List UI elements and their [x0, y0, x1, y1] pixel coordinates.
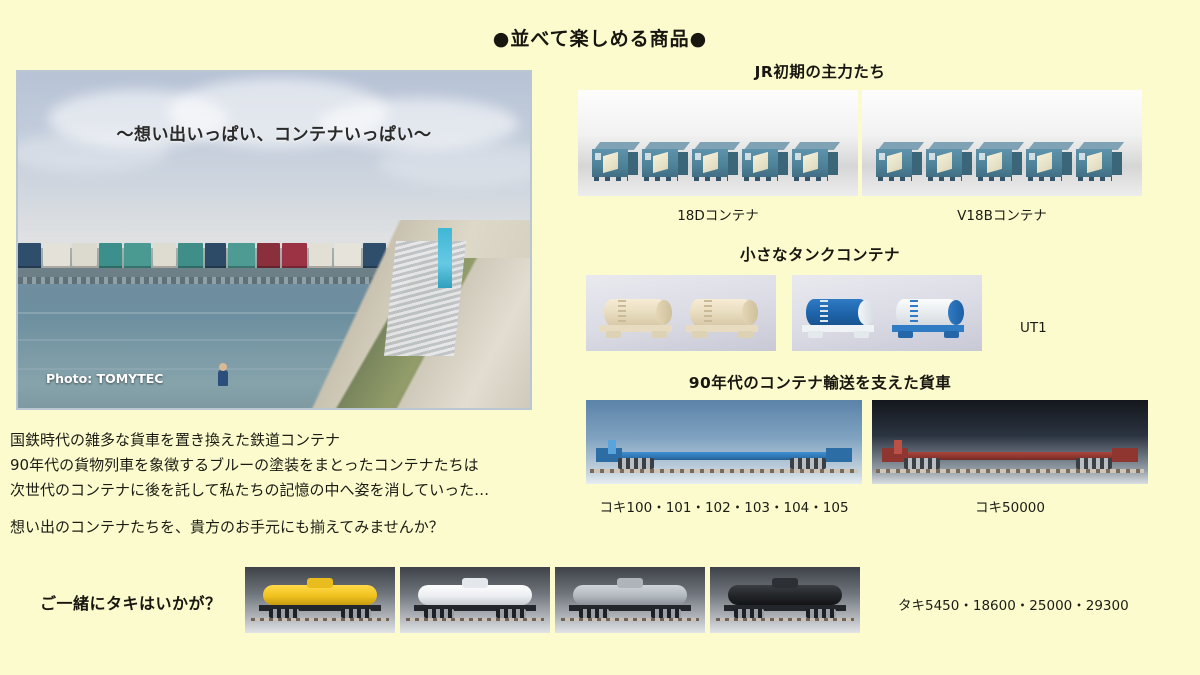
- section-title-containers: JR初期の主力たち: [570, 60, 1070, 82]
- body-line-4: 想い出のコンテナたちを、貴方のお手元にも揃えてみませんか？: [10, 515, 570, 540]
- person-figure: [218, 370, 228, 386]
- caption-18d-container: 18Dコンテナ: [578, 204, 858, 224]
- caption-v18b-container: V18Bコンテナ: [862, 204, 1142, 224]
- photo-caption: ～想い出いっぱい、コンテナいっぱい～: [18, 120, 530, 145]
- tank-wagon-black: [720, 579, 850, 621]
- tank-container-panel-blue: [792, 275, 982, 351]
- poster-page: ●並べて楽しめる商品●: [0, 0, 1200, 675]
- container-panel-v18b: [862, 90, 1142, 196]
- section-title-tank-wagons: ご一緒にタキはいかが？: [40, 590, 250, 614]
- caption-ut1: UT1: [1020, 320, 1047, 336]
- flatcar-blue: [596, 436, 852, 470]
- flatcar-brown: [882, 436, 1138, 470]
- flatcar-panel-koki50000: [872, 400, 1148, 484]
- caption-koki50000: コキ50000: [872, 496, 1148, 516]
- body-line-3: 次世代のコンテナに後を託して私たちの記憶の中へ姿を消していった…: [10, 478, 570, 503]
- tank-wagon-white: [410, 579, 540, 621]
- tank-wagon-panel-gray: [555, 567, 705, 633]
- tank-wagon-panel-black: [710, 567, 860, 633]
- flatcar-panel-koki100: [586, 400, 862, 484]
- tank-wagon-panel-yellow: [245, 567, 395, 633]
- page-title: ●並べて楽しめる商品●: [0, 24, 1200, 51]
- body-line-1: 国鉄時代の雑多な貨車を置き換えた鉄道コンテナ: [10, 428, 570, 453]
- hero-photo: ～想い出いっぱい、コンテナいっぱい～ Photo: TOMYTEC: [16, 70, 532, 410]
- container-panel-18d: [578, 90, 858, 196]
- tank-wagon-gray: [565, 579, 695, 621]
- staircase: [384, 241, 466, 356]
- photo-credit: Photo: TOMYTEC: [46, 371, 163, 386]
- tank-wagon-panel-white: [400, 567, 550, 633]
- caption-tank-wagons: タキ5450・18600・25000・29300: [898, 594, 1129, 614]
- paragraph-gap: [10, 503, 570, 515]
- body-line-2: 90年代の貨物列車を象徴するブルーの塗装をまとったコンテナたちは: [10, 453, 570, 478]
- tank-container-panel-cream: [586, 275, 776, 351]
- body-copy: 国鉄時代の雑多な貨車を置き換えた鉄道コンテナ 90年代の貨物列車を象徴するブルー…: [10, 428, 570, 540]
- tank-wagon-yellow: [255, 579, 385, 621]
- blue-tower: [438, 228, 452, 288]
- section-title-tank-containers: 小さなタンクコンテナ: [570, 243, 1070, 265]
- section-title-freight-cars: 90年代のコンテナ輸送を支えた貨車: [570, 371, 1070, 393]
- caption-koki100: コキ100・101・102・103・104・105: [586, 496, 862, 516]
